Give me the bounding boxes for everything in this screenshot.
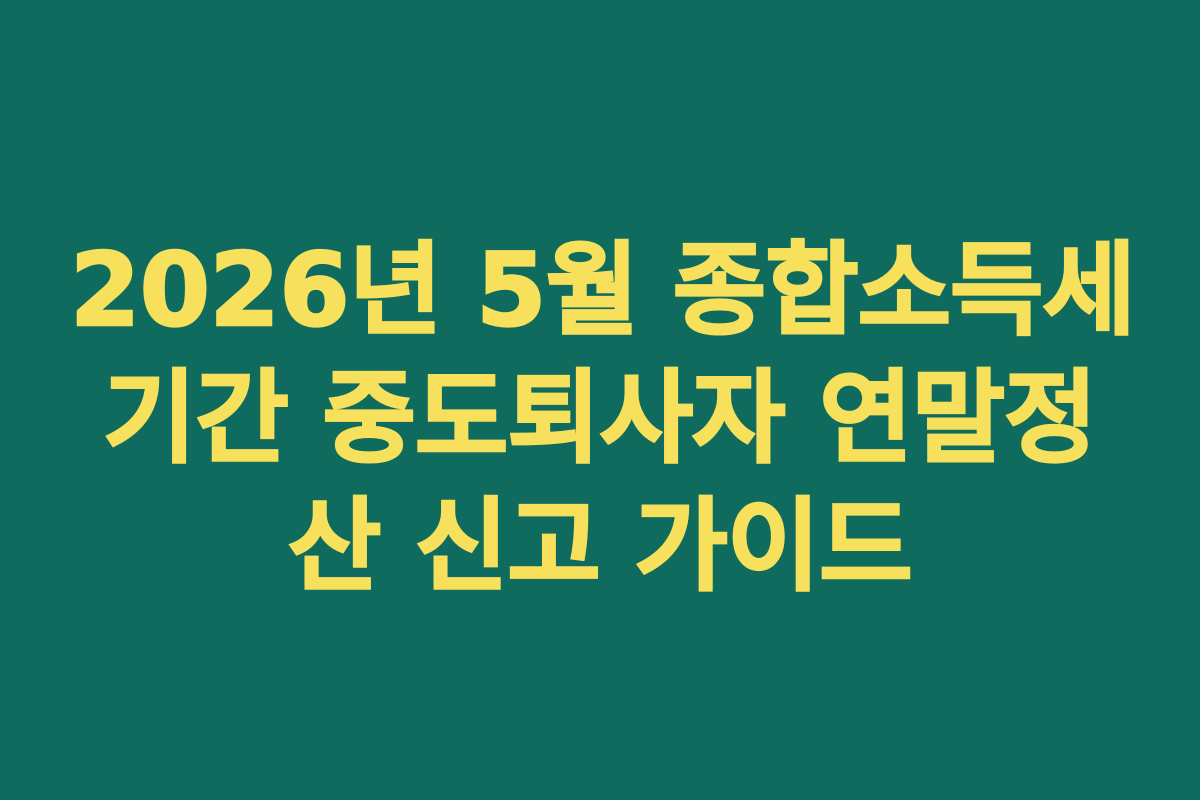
title-line-2: 기간 중도퇴사자 연말정 — [70, 354, 1130, 482]
title-line-3: 산 신고 가이드 — [70, 482, 1130, 610]
title-line-1: 2026년 5월 종합소득세 — [70, 226, 1130, 354]
title-block: 2026년 5월 종합소득세 기간 중도퇴사자 연말정 산 신고 가이드 — [70, 226, 1130, 610]
thumbnail-card: 2026년 5월 종합소득세 기간 중도퇴사자 연말정 산 신고 가이드 — [0, 0, 1200, 800]
